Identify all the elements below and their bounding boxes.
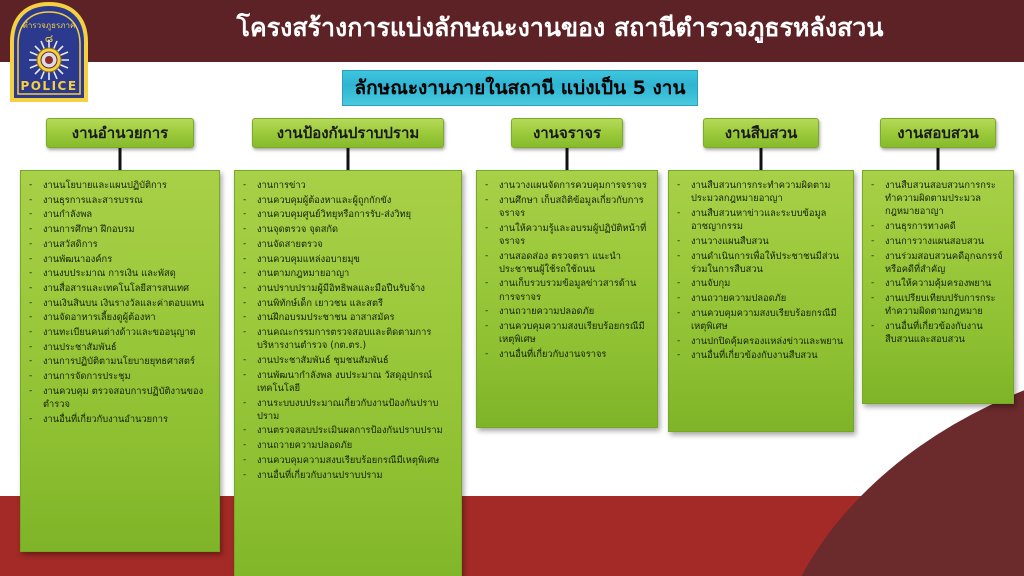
police-badge-logo: ตำรวจภูธรภาค ๘ POLICE [6,2,92,106]
list-bullet: - [485,277,499,290]
list-bullet: - [29,341,43,354]
list-bullet: - [243,397,257,410]
column-header-label: งานจราจร [533,121,601,145]
list-bullet: - [29,355,43,368]
list-item-label: งานฝึกอบรมประชาชน อาสาสมัคร [257,311,455,324]
list-item-label: งานงบประมาณ การเงิน และพัสดุ [43,267,213,280]
list-item: -งานระบบงบประมาณเกี่ยวกับงานป้องกันปราบป… [243,397,455,423]
list-item-label: งานการศึกษา ฝึกอบรม [43,223,213,236]
list-bullet: - [485,179,499,192]
list-item: -งานตรวจสอบประเมินผลการป้องกันปราบปราม [243,424,455,437]
list-item: -งานควบคุมความสงบเรียบร้อยกรณีมีเหตุพิเศ… [677,307,847,333]
list-item: -งานสวัสดิการ [29,238,213,251]
list-item: -งานเก็บรวบรวมข้อมูลข่าวสารด้านการจราจร [485,277,651,303]
list-bullet: - [29,238,43,251]
list-bullet: - [871,320,885,333]
page-title: โครงสร้างการแบ่งลักษณะงานของ สถานีตำรวจภ… [120,8,1000,48]
list-item: -งานสืบสวนหาข่าวและระบบข้อมูลอาชญากรรม [677,207,847,233]
list-bullet: - [677,277,691,290]
column-header-label: งานป้องกันปราบปราม [277,121,420,145]
column-header-prevention-suppression[interactable]: งานป้องกันปราบปราม [252,118,444,148]
list-bullet: - [485,305,499,318]
list-item: -งานกำลังพล [29,208,213,221]
list-item-label: งานจัดอาหารเลี้ยงดูผู้ต้องหา [43,311,213,324]
list-bullet: - [871,235,885,248]
badge-bottom-text: POLICE [20,79,77,93]
list-item: -งานพิทักษ์เด็ก เยาวชน และสตรี [243,297,455,310]
list-item: -งานการวางแผนสอบสวน [871,235,1007,248]
list-item: -งานควบคุม ตรวจสอบการปฏิบัติงานของตำรวจ [29,385,213,411]
list-item: -งานประชาสัมพันธ์ [29,341,213,354]
column-body-administration: -งานนโยบายและแผนปฏิบัติการ-งานธุรการและส… [20,170,220,552]
list-item-label: งานปราบปรามผู้มีอิทธิพลและมือปืนรับจ้าง [257,282,455,295]
list-bullet: - [677,179,691,192]
column-header-investigation[interactable]: งานสืบสวน [703,118,819,148]
list-item-label: งานการวางแผนสอบสวน [885,235,1007,248]
list-item-label: งานตรวจสอบประเมินผลการป้องกันปราบปราม [257,424,455,437]
column-investigation: งานสืบสวน -งานสืบสวนการกระทำความผิดตามปร… [668,118,854,148]
list-item-label: งานสอดส่อง ตรวจตรา แนะนำประชาชนผู้ใช้รถใ… [499,250,651,276]
list-bullet: - [29,194,43,207]
list-item: -งานให้ความคุ้มครองพยาน [871,277,1007,290]
list-item: -งานอื่นที่เกี่ยวข้องกับงานสืบสวน [677,349,847,362]
connector-line [566,148,569,170]
list-bullet: - [677,335,691,348]
list-item: -งานการข่าว [243,179,455,192]
list-item: -งานงบประมาณ การเงิน และพัสดุ [29,267,213,280]
column-administration: งานอำนวยการ -งานนโยบายและแผนปฏิบัติการ-ง… [20,118,220,148]
list-bullet: - [243,369,257,382]
list-item: -งานสื่อสารและเทคโนโลยีสารสนเทศ [29,282,213,295]
list-item-label: งานควบคุม ตรวจสอบการปฏิบัติงานของตำรวจ [43,385,213,411]
list-item-label: งานเปรียบเทียบปรับการกระทำความผิดตามกฎหม… [885,292,1007,318]
list-item: -งานดำเนินการเพื่อให้ประชาชนมีส่วนร่วมใน… [677,250,847,276]
list-item: -งานทะเบียนคนต่างด้าวและขออนุญาต [29,326,213,339]
list-item-label: งานร่วมสอบสวนคดีอุกฉกรรจ์หรือคดีที่สำคัญ [885,250,1007,276]
list-bullet: - [871,220,885,233]
list-item: -งานจับกุม [677,277,847,290]
column-header-label: งานอำนวยการ [72,121,168,145]
list-item: -งานปราบปรามผู้มีอิทธิพลและมือปืนรับจ้าง [243,282,455,295]
list-item: -งานควบคุมศูนย์วิทยุหรือการรับ-ส่งวิทยุ [243,208,455,221]
list-item: -งานสืบสวนสอบสวนการกระทำความผิดตามประมวล… [871,179,1007,219]
list-bullet: - [485,320,499,333]
list-bullet: - [243,439,257,452]
list-item-label: งานสื่อสารและเทคโนโลยีสารสนเทศ [43,282,213,295]
list-item: -งานตามกฎหมายอาญา [243,267,455,280]
subtitle-banner: ลักษณะงานภายในสถานี แบ่งเป็น 5 งาน [342,70,698,106]
list-item-label: งานนโยบายและแผนปฏิบัติการ [43,179,213,192]
list-item: -งานควบคุมความสงบเรียบร้อยกรณีมีเหตุพิเศ… [485,320,651,346]
list-item: -งานพัฒนากำลังพล งบประมาณ วัสดุอุปกรณ์ เ… [243,369,455,395]
list-item-label: งานทะเบียนคนต่างด้าวและขออนุญาต [43,326,213,339]
list-item: -งานวางแผนสืบสวน [677,235,847,248]
list-item-label: งานกำลังพล [43,208,213,221]
list-item-label: งานประชาสัมพันธ์ [43,341,213,354]
task-list-prevention-suppression: -งานการข่าว-งานควบคุมผู้ต้องหาและผู้ถูกก… [243,179,455,482]
list-item: -งานควบคุมผู้ต้องหาและผู้ถูกกักขัง [243,194,455,207]
list-item-label: งานถวายความปลอดภัย [257,439,455,452]
list-item-label: งานพัฒนาองค์กร [43,253,213,266]
column-header-traffic[interactable]: งานจราจร [511,118,623,148]
list-item: -งานการศึกษา ฝึกอบรม [29,223,213,236]
list-item: -งานควบคุมแหล่งอบายมุข [243,253,455,266]
column-body-prevention-suppression: -งานการข่าว-งานควบคุมผู้ต้องหาและผู้ถูกก… [234,170,462,576]
list-bullet: - [871,292,885,305]
list-item: -งานจัดสายตรวจ [243,238,455,251]
list-bullet: - [485,194,499,207]
list-item-label: งานดำเนินการเพื่อให้ประชาชนมีส่วนร่วมในก… [691,250,847,276]
list-bullet: - [29,413,43,426]
list-item: -งานวางแผนจัดการควบคุมการจราจร [485,179,651,192]
list-item: -งานสอดส่อง ตรวจตรา แนะนำประชาชนผู้ใช้รถ… [485,250,651,276]
badge-top-text: ตำรวจภูธรภาค [23,21,76,31]
list-item-label: งานควบคุมความสงบเรียบร้อยกรณีมีเหตุพิเศษ [499,320,651,346]
task-list-investigation: -งานสืบสวนการกระทำความผิดตามประมวลกฎหมาย… [677,179,847,363]
column-header-inquiry[interactable]: งานสอบสวน [880,118,996,148]
list-item: -งานควบคุมความสงบเรียบร้อยกรณีมีเหตุพิเศ… [243,454,455,467]
badge-emblem [29,40,69,80]
list-item-label: งานธุรการทางคดี [885,220,1007,233]
list-item-label: งานวางแผนจัดการควบคุมการจราจร [499,179,651,192]
subtitle-text: ลักษณะงานภายในสถานี แบ่งเป็น 5 งาน [355,73,686,103]
list-bullet: - [29,370,43,383]
list-item-label: งานการจัดการประชุม [43,370,213,383]
list-item: -งานธุรการและสารบรรณ [29,194,213,207]
list-item-label: งานวางแผนสืบสวน [691,235,847,248]
column-prevention-suppression: งานป้องกันปราบปราม -งานการข่าว-งานควบคุม… [234,118,462,148]
list-item: -งานเปรียบเทียบปรับการกระทำความผิดตามกฎห… [871,292,1007,318]
list-item-label: งานอื่นที่เกี่ยวกับงานจราจร [499,348,651,361]
list-bullet: - [29,267,43,280]
list-bullet: - [243,253,257,266]
list-item-label: งานอื่นที่เกี่ยวข้องกับงานสืบสวน [691,349,847,362]
list-item: -งานถวายความปลอดภัย [243,439,455,452]
list-item: -งานอื่นที่เกี่ยวกับงานอำนวยการ [29,413,213,426]
list-bullet: - [243,223,257,236]
list-bullet: - [871,250,885,263]
list-item: -งานถวายความปลอดภัย [485,305,651,318]
column-header-label: งานสอบสวน [897,121,979,145]
list-item: -งานอื่นที่เกี่ยวกับงานปราบปราม [243,469,455,482]
list-bullet: - [677,307,691,320]
list-item-label: งานอื่นที่เกี่ยวข้องกับงานสืบสวนและสอบสว… [885,320,1007,346]
connector-line [760,148,763,170]
list-item-label: งานธุรการและสารบรรณ [43,194,213,207]
task-list-inquiry: -งานสืบสวนสอบสวนการกระทำความผิดตามประมวล… [871,179,1007,346]
list-item-label: งานพิทักษ์เด็ก เยาวชน และสตรี [257,297,455,310]
list-item: -งานปกปิดคุ้มครองแหล่งข่าวและพยาน [677,335,847,348]
list-bullet: - [29,385,43,398]
list-item-label: งานถวายความปลอดภัย [691,292,847,305]
list-bullet: - [871,179,885,192]
list-item: -งานให้ความรู้และอบรมผู้ปฏิบัติหน้าที่จร… [485,222,651,248]
list-item: -งานนโยบายและแผนปฏิบัติการ [29,179,213,192]
list-item-label: งานสืบสวนการกระทำความผิดตามประมวลกฎหมายอ… [691,179,847,205]
list-bullet: - [677,207,691,220]
list-item-label: งานตามกฎหมายอาญา [257,267,455,280]
list-bullet: - [243,194,257,207]
list-item: -งานพัฒนาองค์กร [29,253,213,266]
list-item-label: งานประชาสัมพันธ์ ชุมชนสัมพันธ์ [257,354,455,367]
slide-canvas: ตำรวจภูธรภาค ๘ POLICE โครงส [0,0,1024,576]
list-item-label: งานอื่นที่เกี่ยวกับงานอำนวยการ [43,413,213,426]
list-item: -งานประชาสัมพันธ์ ชุมชนสัมพันธ์ [243,354,455,367]
task-list-traffic: -งานวางแผนจัดการควบคุมการจราจร-งานศึกษา … [485,179,651,361]
list-bullet: - [243,238,257,251]
list-bullet: - [29,282,43,295]
list-item: -งานสืบสวนการกระทำความผิดตามประมวลกฎหมาย… [677,179,847,205]
list-bullet: - [677,292,691,305]
column-body-investigation: -งานสืบสวนการกระทำความผิดตามประมวลกฎหมาย… [668,170,854,432]
list-item-label: งานการข่าว [257,179,455,192]
list-item: -งานอื่นที่เกี่ยวข้องกับงานสืบสวนและสอบส… [871,320,1007,346]
connector-line [347,148,350,170]
org-chart-columns: งานอำนวยการ -งานนโยบายและแผนปฏิบัติการ-ง… [0,118,1024,558]
list-bullet: - [485,348,499,361]
task-list-administration: -งานนโยบายและแผนปฏิบัติการ-งานธุรการและส… [29,179,213,426]
list-bullet: - [29,253,43,266]
column-header-administration[interactable]: งานอำนวยการ [46,118,194,148]
list-item-label: งานถวายความปลอดภัย [499,305,651,318]
list-bullet: - [243,454,257,467]
list-item: -งานการปฏิบัติตามนโยบายยุทธศาสตร์ [29,355,213,368]
column-inquiry: งานสอบสวน -งานสืบสวนสอบสวนการกระทำความผิ… [862,118,1014,148]
list-bullet: - [29,179,43,192]
list-item-label: งานเงินสินบน เงินรางวัลและค่าตอบแทน [43,297,213,310]
list-bullet: - [243,179,257,192]
list-item-label: งานให้ความรู้และอบรมผู้ปฏิบัติหน้าที่จรา… [499,222,651,248]
list-item-label: งานควบคุมผู้ต้องหาและผู้ถูกกักขัง [257,194,455,207]
list-item-label: งานสวัสดิการ [43,238,213,251]
list-bullet: - [243,469,257,482]
list-item-label: งานสืบสวนสอบสวนการกระทำความผิดตามประมวลก… [885,179,1007,219]
list-item-label: งานเก็บรวบรวมข้อมูลข่าวสารด้านการจราจร [499,277,651,303]
list-item-label: งานควบคุมศูนย์วิทยุหรือการรับ-ส่งวิทยุ [257,208,455,221]
list-item: -งานอื่นที่เกี่ยวกับงานจราจร [485,348,651,361]
list-item: -งานถวายความปลอดภัย [677,292,847,305]
list-bullet: - [677,250,691,263]
list-bullet: - [677,349,691,362]
list-item-label: งานระบบงบประมาณเกี่ยวกับงานป้องกันปราบปร… [257,397,455,423]
column-header-label: งานสืบสวน [725,121,798,145]
list-item-label: งานอื่นที่เกี่ยวกับงานปราบปราม [257,469,455,482]
list-item-label: งานการปฏิบัติตามนโยบายยุทธศาสตร์ [43,355,213,368]
list-bullet: - [243,282,257,295]
list-bullet: - [243,267,257,280]
list-item-label: งานจุดตรวจ จุดสกัด [257,223,455,236]
list-item: -งานการจัดการประชุม [29,370,213,383]
list-item-label: งานคณะกรรมการตรวจสอบและติดตามการบริหารงา… [257,326,455,352]
list-item-label: งานจัดสายตรวจ [257,238,455,251]
list-bullet: - [29,326,43,339]
list-bullet: - [243,354,257,367]
list-item-label: งานสืบสวนหาข่าวและระบบข้อมูลอาชญากรรม [691,207,847,233]
list-bullet: - [243,424,257,437]
connector-line [937,148,940,170]
list-bullet: - [243,208,257,221]
list-bullet: - [29,223,43,236]
list-item: -งานศึกษา เก็บสถิติข้อมูลเกี่ยวกับการจรา… [485,194,651,220]
list-bullet: - [485,222,499,235]
list-item: -งานธุรการทางคดี [871,220,1007,233]
column-body-inquiry: -งานสืบสวนสอบสวนการกระทำความผิดตามประมวล… [862,170,1014,404]
list-item: -งานคณะกรรมการตรวจสอบและติดตามการบริหารง… [243,326,455,352]
list-item-label: งานพัฒนากำลังพล งบประมาณ วัสดุอุปกรณ์ เท… [257,369,455,395]
list-bullet: - [243,326,257,339]
list-bullet: - [485,250,499,263]
list-item-label: งานควบคุมความสงบเรียบร้อยกรณีมีเหตุพิเศษ [691,307,847,333]
list-bullet: - [677,235,691,248]
list-bullet: - [243,311,257,324]
list-item: -งานจุดตรวจ จุดสกัด [243,223,455,236]
list-bullet: - [29,297,43,310]
list-item-label: งานควบคุมแหล่งอบายมุข [257,253,455,266]
list-bullet: - [29,208,43,221]
list-item: -งานฝึกอบรมประชาชน อาสาสมัคร [243,311,455,324]
list-item: -งานเงินสินบน เงินรางวัลและค่าตอบแทน [29,297,213,310]
list-item: -งานจัดอาหารเลี้ยงดูผู้ต้องหา [29,311,213,324]
column-body-traffic: -งานวางแผนจัดการควบคุมการจราจร-งานศึกษา … [476,170,658,428]
column-traffic: งานจราจร -งานวางแผนจัดการควบคุมการจราจร-… [476,118,658,148]
list-item-label: งานให้ความคุ้มครองพยาน [885,277,1007,290]
list-bullet: - [243,297,257,310]
list-item: -งานร่วมสอบสวนคดีอุกฉกรรจ์หรือคดีที่สำคั… [871,250,1007,276]
connector-line [119,148,122,170]
list-bullet: - [29,311,43,324]
list-bullet: - [871,277,885,290]
list-item-label: งานควบคุมความสงบเรียบร้อยกรณีมีเหตุพิเศษ [257,454,455,467]
list-item-label: งานปกปิดคุ้มครองแหล่งข่าวและพยาน [691,335,847,348]
list-item-label: งานจับกุม [691,277,847,290]
list-item-label: งานศึกษา เก็บสถิติข้อมูลเกี่ยวกับการจราจ… [499,194,651,220]
